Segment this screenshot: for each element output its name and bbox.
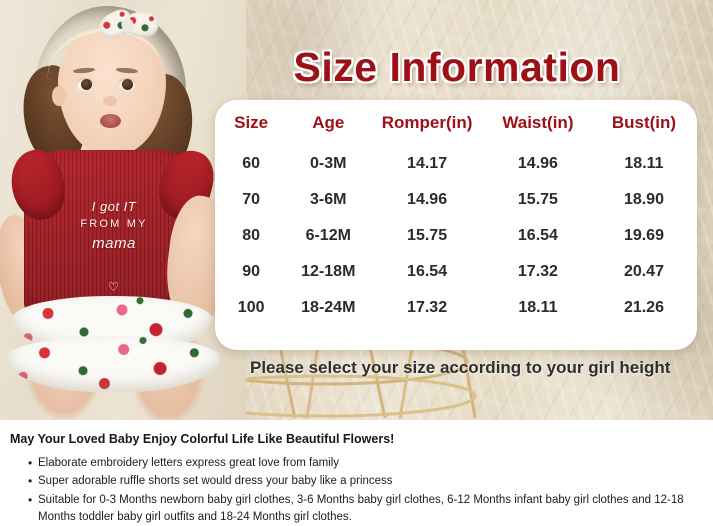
- cell-size: 100: [215, 290, 287, 326]
- cell-age: 6-12M: [287, 218, 369, 254]
- cell-waist: 14.96: [485, 146, 591, 182]
- size-selection-note: Please select your size according to you…: [250, 358, 670, 378]
- size-table-body: 60 0-3M 14.17 14.96 18.11 70 3-6M 14.96 …: [215, 146, 697, 326]
- column-header-waist: Waist(in): [485, 100, 591, 146]
- cell-romper: 15.75: [369, 218, 485, 254]
- baby-ear: [52, 86, 66, 106]
- cell-size: 70: [215, 182, 287, 218]
- cell-bust: 20.47: [591, 254, 697, 290]
- table-row: 100 18-24M 17.32 18.11 21.26: [215, 290, 697, 326]
- cell-size: 90: [215, 254, 287, 290]
- cell-size: 60: [215, 146, 287, 182]
- iris-right: [122, 79, 133, 90]
- table-row: 80 6-12M 15.75 16.54 19.69: [215, 218, 697, 254]
- floral-ruffle-skirt: [6, 296, 224, 392]
- table-row: 90 12-18M 16.54 17.32 20.47: [215, 254, 697, 290]
- cell-bust: 21.26: [591, 290, 697, 326]
- table-row: 70 3-6M 14.96 15.75 18.90: [215, 182, 697, 218]
- column-header-bust: Bust(in): [591, 100, 697, 146]
- baby-nose: [103, 96, 117, 106]
- cell-romper: 14.17: [369, 146, 485, 182]
- cell-age: 3-6M: [287, 182, 369, 218]
- size-table: Size Age Romper(in) Waist(in) Bust(in) 6…: [215, 100, 697, 326]
- feature-bullet-list: Elaborate embroidery letters express gre…: [10, 455, 703, 526]
- cell-waist: 16.54: [485, 218, 591, 254]
- shirt-slogan-line-2: FROM MY: [52, 217, 176, 233]
- skirt-tier-bottom: [6, 336, 220, 392]
- shirt-slogan-line-3: mama: [52, 233, 176, 255]
- size-chart-banner: I got IT FROM MY mama ♡ Size Information…: [0, 0, 713, 420]
- cell-waist: 17.32: [485, 254, 591, 290]
- page-title: Size Information: [215, 44, 699, 91]
- cell-bust: 18.90: [591, 182, 697, 218]
- cell-bust: 18.11: [591, 146, 697, 182]
- column-header-size: Size: [215, 100, 287, 146]
- cell-size: 80: [215, 218, 287, 254]
- shirt-slogan-line-1: I got IT: [52, 198, 176, 217]
- product-photo-baby-girl: I got IT FROM MY mama ♡: [0, 0, 246, 420]
- iris-left: [81, 79, 92, 90]
- list-item: Elaborate embroidery letters express gre…: [28, 455, 703, 472]
- list-item: Super adorable ruffle shorts set would d…: [28, 473, 703, 490]
- column-header-age: Age: [287, 100, 369, 146]
- table-header-row: Size Age Romper(in) Waist(in) Bust(in): [215, 100, 697, 146]
- cell-age: 12-18M: [287, 254, 369, 290]
- column-header-romper: Romper(in): [369, 100, 485, 146]
- table-row: 60 0-3M 14.17 14.96 18.11: [215, 146, 697, 182]
- cell-romper: 17.32: [369, 290, 485, 326]
- list-item: Suitable for 0-3 Months newborn baby gir…: [28, 492, 703, 526]
- shirt-slogan: I got IT FROM MY mama: [52, 198, 176, 255]
- cell-bust: 19.69: [591, 218, 697, 254]
- cell-waist: 15.75: [485, 182, 591, 218]
- cell-age: 0-3M: [287, 146, 369, 182]
- size-table-card: Size Age Romper(in) Waist(in) Bust(in) 6…: [215, 100, 697, 350]
- cell-romper: 16.54: [369, 254, 485, 290]
- product-description: May Your Loved Baby Enjoy Colorful Life …: [0, 420, 713, 526]
- baby-mouth: [100, 114, 121, 128]
- shirt-heart-icon: ♡: [108, 281, 120, 293]
- cell-age: 18-24M: [287, 290, 369, 326]
- cell-waist: 18.11: [485, 290, 591, 326]
- description-heading: May Your Loved Baby Enjoy Colorful Life …: [10, 432, 703, 446]
- cell-romper: 14.96: [369, 182, 485, 218]
